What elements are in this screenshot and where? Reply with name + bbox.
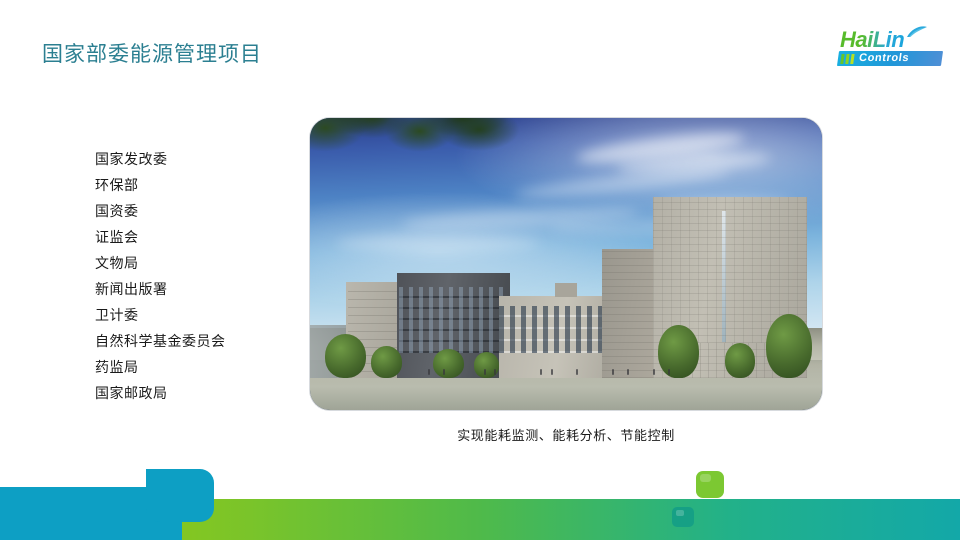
list-item: 新闻出版署 <box>95 276 226 302</box>
logo-bars-icon <box>840 54 854 64</box>
list-item: 证监会 <box>95 224 226 250</box>
pedestrian <box>653 369 655 375</box>
facade-glass-slot <box>722 211 725 341</box>
pedestrian <box>576 369 578 375</box>
building-mid-right <box>602 249 658 377</box>
list-item: 国家发改委 <box>95 146 226 172</box>
list-item: 自然科学基金委员会 <box>95 328 226 354</box>
pedestrian <box>612 369 614 375</box>
list-item: 卫计委 <box>95 302 226 328</box>
list-item: 国资委 <box>95 198 226 224</box>
tree <box>433 349 464 378</box>
logo-banner-text: Controls <box>858 53 910 64</box>
tree <box>725 343 756 378</box>
building-photo-image <box>310 118 822 410</box>
list-item: 环保部 <box>95 172 226 198</box>
list-item: 文物局 <box>95 250 226 276</box>
leaf-swoosh-icon <box>906 26 928 38</box>
ministry-list: 国家发改委 环保部 国资委 证监会 文物局 新闻出版署 卫计委 自然科学基金委员… <box>95 146 226 406</box>
brand-logo: HaiLin Controls <box>836 28 944 72</box>
pedestrian <box>551 369 553 375</box>
tree <box>371 346 402 378</box>
list-item: 国家邮政局 <box>95 380 226 406</box>
pedestrian <box>428 369 430 375</box>
pedestrian <box>443 369 445 375</box>
pedestrian <box>484 369 486 375</box>
deco-teal-small-square <box>672 507 694 527</box>
tree <box>658 325 699 378</box>
logo-banner: Controls <box>837 51 943 66</box>
tree <box>766 314 812 378</box>
foreground-tree-canopy <box>423 118 536 171</box>
roof-plant-box <box>555 283 577 297</box>
list-item: 药监局 <box>95 354 226 380</box>
building-photo <box>310 118 822 410</box>
photo-caption: 实现能耗监测、能耗分析、节能控制 <box>310 427 822 445</box>
slide-canvas: 国家部委能源管理项目 HaiLin Controls 国家发改委 环保部 国资委… <box>0 0 960 540</box>
page-title: 国家部委能源管理项目 <box>42 41 262 69</box>
deco-green-square <box>696 471 724 498</box>
tree <box>325 334 366 378</box>
deco-teal-joint <box>146 469 186 509</box>
logo-wordmark: HaiLin <box>840 28 904 52</box>
